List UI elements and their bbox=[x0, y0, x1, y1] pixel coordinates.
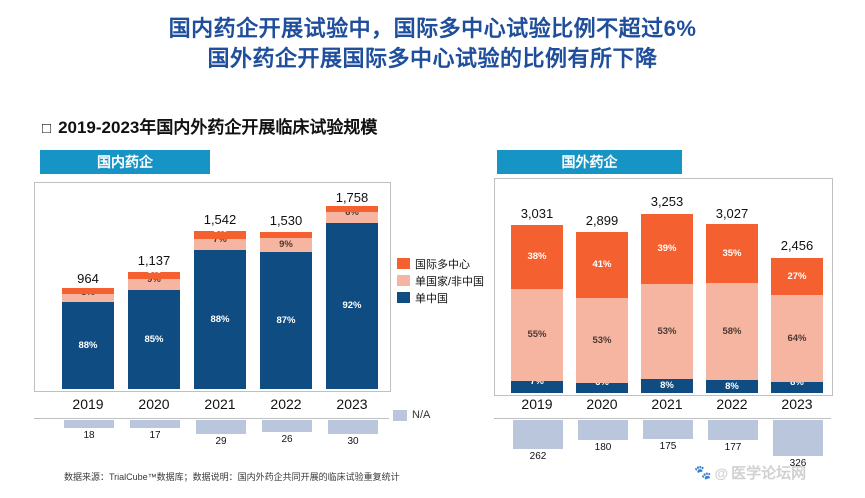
x-axis-year-label: 2023 bbox=[759, 396, 835, 412]
legend-item[interactable]: 国际多中心 bbox=[397, 255, 484, 272]
na-bar-value: 180 bbox=[570, 442, 636, 453]
bar-segment-label: 55% bbox=[527, 330, 546, 340]
bar-segment-label: 88% bbox=[210, 315, 229, 325]
bar-segment: 5% bbox=[194, 231, 246, 239]
x-axis-year-label: 2023 bbox=[314, 396, 390, 412]
bar-segment-label: 38% bbox=[527, 252, 546, 262]
x-axis-year-label: 2021 bbox=[182, 396, 258, 412]
bar-segment: 4% bbox=[260, 232, 312, 238]
bar-segment: 38% bbox=[511, 225, 563, 289]
bar-segment: 8% bbox=[771, 382, 823, 393]
bar-segment: 8% bbox=[62, 294, 114, 302]
bar-segment-label: 35% bbox=[722, 249, 741, 259]
bar-segment-label: 53% bbox=[592, 336, 611, 346]
na-bar-value: 175 bbox=[635, 441, 701, 452]
x-axis-year-label: 2019 bbox=[50, 396, 126, 412]
bar-column: 7%55%38% bbox=[511, 225, 563, 393]
bar-segment: 64% bbox=[771, 295, 823, 382]
legend-item[interactable]: 单中国 bbox=[397, 289, 484, 306]
na-bar bbox=[196, 420, 246, 434]
legend-item[interactable]: 单国家/非中国 bbox=[397, 272, 484, 289]
section-subtitle: □2019-2023年国内外药企开展临床试验规模 bbox=[42, 113, 377, 138]
bar-segment-label: 58% bbox=[722, 327, 741, 337]
bar-segment: 9% bbox=[260, 238, 312, 252]
bar-column: 8%64%27% bbox=[771, 257, 823, 393]
bar-segment-label: 8% bbox=[725, 382, 739, 392]
bar-segment: 8% bbox=[641, 379, 693, 393]
paw-icon: 🐾 bbox=[694, 464, 711, 481]
na-legend-swatch bbox=[393, 410, 407, 421]
watermark-label: 医学论坛网 bbox=[731, 462, 806, 483]
bar-segment: 27% bbox=[771, 258, 823, 295]
na-bar bbox=[64, 420, 114, 428]
na-bar bbox=[578, 420, 628, 440]
na-bar-value: 30 bbox=[320, 436, 386, 447]
axis-divider bbox=[494, 418, 831, 419]
na-bar-value: 262 bbox=[505, 451, 571, 462]
axis-divider bbox=[34, 418, 389, 419]
bar-segment-label: 88% bbox=[78, 341, 97, 351]
bar-segment: 92% bbox=[326, 223, 378, 389]
bar-column: 8%58%35% bbox=[706, 225, 758, 393]
bar-segment: 3% bbox=[326, 206, 378, 212]
bar-segment: 7% bbox=[511, 381, 563, 393]
x-axis-year-label: 2022 bbox=[248, 396, 324, 412]
bar-total-label: 2,899 bbox=[562, 213, 642, 228]
square-bullet-icon: □ bbox=[42, 121, 51, 136]
bar-segment-label: 9% bbox=[279, 240, 293, 250]
na-bar bbox=[130, 420, 180, 428]
bar-column: 8%53%39% bbox=[641, 213, 693, 393]
na-bar-value: 29 bbox=[188, 436, 254, 447]
bar-column: 88%8%4% bbox=[62, 290, 114, 389]
bar-total-label: 1,758 bbox=[312, 190, 392, 205]
bar-total-label: 2,456 bbox=[757, 238, 837, 253]
bar-segment: 39% bbox=[641, 214, 693, 284]
chart-legend: 国际多中心单国家/非中国单中国 bbox=[397, 255, 484, 306]
bar-segment: 8% bbox=[706, 380, 758, 393]
na-bar bbox=[773, 420, 823, 456]
bar-total-label: 3,027 bbox=[692, 206, 772, 221]
na-bar-value: 177 bbox=[700, 442, 766, 453]
at-icon: @ bbox=[714, 465, 728, 481]
bar-total-label: 1,530 bbox=[246, 213, 326, 228]
x-axis-year-label: 2020 bbox=[116, 396, 192, 412]
na-bar bbox=[708, 420, 758, 440]
panel-header-domestic: 国内药企 bbox=[40, 150, 210, 174]
panel-header-foreign-label: 国外药企 bbox=[562, 152, 618, 172]
bar-column: 85%9%6% bbox=[128, 272, 180, 389]
na-bar-value: 17 bbox=[122, 430, 188, 441]
bar-segment: 7% bbox=[194, 239, 246, 250]
bar-segment-label: 64% bbox=[787, 334, 806, 344]
page-title: 国内药企开展试验中，国际多中心试验比例不超过6% 国外药企开展国际多中心试验的比… bbox=[0, 14, 865, 74]
na-bar bbox=[262, 420, 312, 432]
na-legend: N/A bbox=[393, 409, 430, 421]
bar-segment-label: 92% bbox=[342, 301, 361, 311]
bar-segment-label: 27% bbox=[787, 272, 806, 282]
slide-root: 国内药企开展试验中，国际多中心试验比例不超过6% 国外药企开展国际多中心试验的比… bbox=[0, 0, 865, 498]
bar-segment-label: 39% bbox=[657, 244, 676, 254]
na-bar bbox=[643, 420, 693, 439]
legend-label: 单中国 bbox=[415, 290, 448, 306]
panel-header-domestic-label: 国内药企 bbox=[97, 152, 153, 172]
bar-segment: 58% bbox=[706, 283, 758, 380]
legend-swatch bbox=[397, 275, 410, 286]
bar-segment: 85% bbox=[128, 290, 180, 389]
source-note: 数据来源：TrialCube™数据库；数据说明：国内外药企共同开展的临床试验重复… bbox=[64, 470, 400, 483]
na-bar bbox=[328, 420, 378, 434]
na-bar bbox=[513, 420, 563, 449]
na-bar-value: 26 bbox=[254, 434, 320, 445]
bar-segment: 53% bbox=[641, 284, 693, 379]
bar-column: 6%53%41% bbox=[576, 232, 628, 393]
bar-segment: 4% bbox=[62, 288, 114, 294]
bar-segment: 35% bbox=[706, 224, 758, 283]
subtitle-text: 2019-2023年国内外药企开展临床试验规模 bbox=[58, 118, 377, 137]
na-bar-value: 18 bbox=[56, 430, 122, 441]
bar-segment: 87% bbox=[260, 252, 312, 389]
bar-segment: 41% bbox=[576, 232, 628, 298]
watermark: 🐾 @ 医学论坛网 bbox=[694, 462, 806, 483]
bar-total-label: 964 bbox=[48, 271, 128, 286]
na-legend-label: N/A bbox=[412, 409, 430, 421]
bar-segment-label: 53% bbox=[657, 327, 676, 337]
bar-segment-label: 8% bbox=[660, 381, 674, 391]
bar-column: 88%7%5% bbox=[194, 231, 246, 389]
bar-column: 92%6%3% bbox=[326, 209, 378, 389]
bar-segment-label: 87% bbox=[276, 316, 295, 326]
bar-segment-label: 41% bbox=[592, 260, 611, 270]
bar-segment: 6% bbox=[326, 212, 378, 223]
bar-segment: 6% bbox=[576, 383, 628, 393]
bar-segment: 88% bbox=[194, 250, 246, 389]
bar-segment: 9% bbox=[128, 279, 180, 290]
panel-header-foreign: 国外药企 bbox=[497, 150, 682, 174]
bar-segment: 88% bbox=[62, 302, 114, 389]
legend-label: 国际多中心 bbox=[415, 256, 470, 272]
bar-column: 87%9%4% bbox=[260, 232, 312, 389]
legend-label: 单国家/非中国 bbox=[415, 273, 484, 289]
legend-swatch bbox=[397, 292, 410, 303]
legend-swatch bbox=[397, 258, 410, 269]
bar-segment: 53% bbox=[576, 298, 628, 383]
title-line-2: 国外药企开展国际多中心试验的比例有所下降 bbox=[0, 44, 865, 74]
bar-total-label: 1,137 bbox=[114, 253, 194, 268]
bar-segment: 55% bbox=[511, 289, 563, 381]
bar-segment: 6% bbox=[128, 272, 180, 279]
bar-segment-label: 85% bbox=[144, 335, 163, 345]
title-line-1: 国内药企开展试验中，国际多中心试验比例不超过6% bbox=[0, 14, 865, 44]
